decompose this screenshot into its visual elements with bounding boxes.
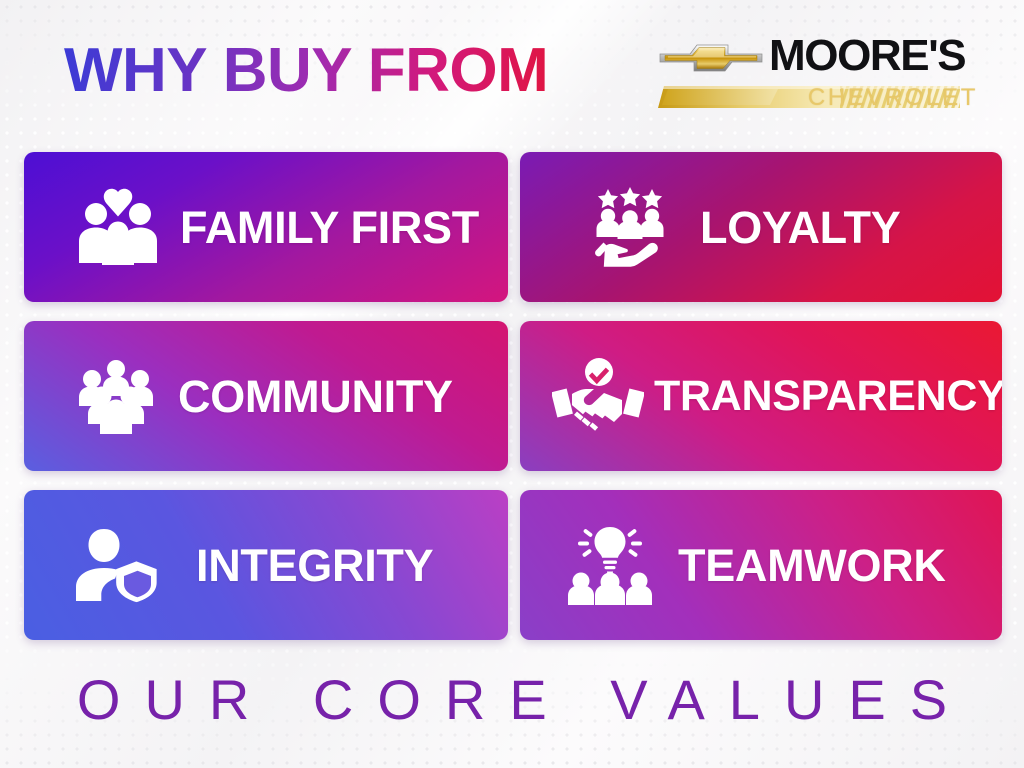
value-card-community[interactable]: COMMUNITY	[24, 321, 508, 471]
person-shield-icon	[70, 522, 166, 608]
header: WHY BUY FROM	[0, 0, 1024, 140]
value-card-label: LOYALTY	[700, 205, 900, 250]
value-card-label: TEAMWORK	[678, 543, 946, 588]
dealership-logo: MOORE'S	[658, 34, 978, 114]
value-card-loyalty[interactable]: LOYALTY	[520, 152, 1002, 302]
family-heart-icon	[70, 184, 166, 270]
footer: OUR CORE VALUES	[0, 672, 1024, 728]
value-card-integrity[interactable]: INTEGRITY	[24, 490, 508, 640]
value-card-label: INTEGRITY	[196, 543, 433, 588]
hand-holding-people-stars-icon	[582, 184, 678, 270]
lightbulb-team-icon	[562, 522, 658, 608]
poster-root: WHY BUY FROM	[0, 0, 1024, 768]
value-card-label: FAMILY FIRST	[180, 205, 479, 250]
value-card-transparency[interactable]: TRANSPARENCY	[520, 321, 1002, 471]
logo-brand-subtitle: CHEVROLET	[808, 86, 978, 110]
logo-dealer-name: MOORE'S	[769, 34, 965, 78]
logo-primary-row: MOORE'S	[658, 34, 965, 78]
footer-tagline: OUR CORE VALUES	[53, 672, 971, 728]
value-card-label: TRANSPARENCY	[654, 375, 1002, 418]
page-title: WHY BUY FROM	[64, 40, 548, 102]
value-card-teamwork[interactable]: TEAMWORK	[520, 490, 1002, 640]
value-card-family-first[interactable]: FAMILY FIRST	[24, 152, 508, 302]
chevrolet-bowtie-icon	[658, 37, 764, 77]
logo-secondary-row: CHEVROLET	[658, 80, 978, 114]
core-values-grid: FAMILY FIRST LOYALTY	[24, 152, 1002, 646]
people-group-icon	[68, 353, 164, 439]
value-card-label: COMMUNITY	[178, 374, 453, 419]
handshake-check-icon	[550, 353, 646, 439]
